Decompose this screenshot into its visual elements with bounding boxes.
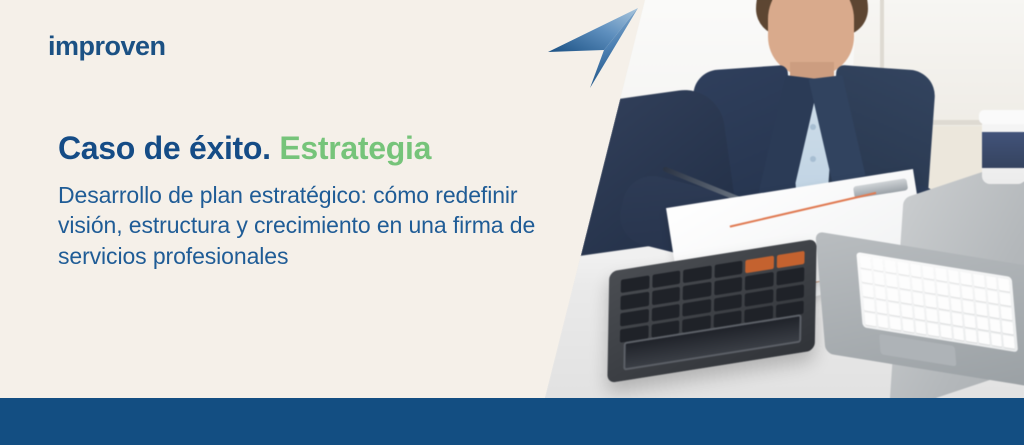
shirt-button [810,124,816,130]
page-subtitle: Desarrollo de plan estratégico: cómo red… [58,180,558,271]
case-study-banner: improven Caso de éxito. Estrategia Desar… [0,0,1024,445]
improven-logo[interactable]: improven [48,33,166,60]
coffee-cup [982,110,1024,184]
bottom-accent-bar [0,398,1024,445]
title-accent: Estrategia [279,130,431,166]
shirt-button [810,156,816,162]
page-title: Caso de éxito. Estrategia [58,131,431,166]
title-primary: Caso de éxito. [58,130,271,166]
coffee-cup-lid [979,110,1024,124]
laptop [830,180,1024,398]
coffee-cup-sleeve [982,132,1024,168]
paper-plane-arrow-icon [546,2,642,102]
